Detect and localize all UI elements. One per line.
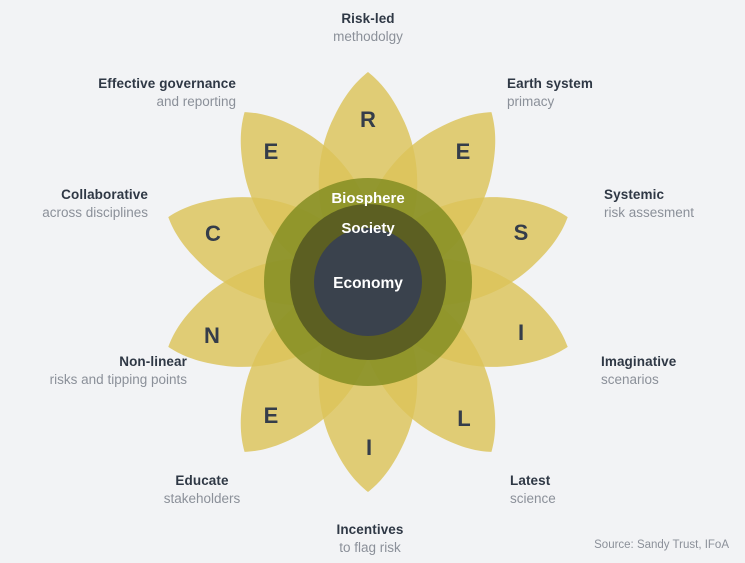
petal-label-title-1: Earth system <box>507 75 677 93</box>
petal-label-title-7: Non-linear <box>12 353 187 371</box>
resilience-flower-diagram: Biosphere Society Economy RESILIENCE Ris… <box>0 0 745 563</box>
petal-label-subtitle-1: primacy <box>507 93 677 111</box>
petal-label-6: Educatestakeholders <box>122 472 282 507</box>
petal-letter-5: I <box>366 435 372 460</box>
petal-label-title-5: Incentives <box>280 521 460 539</box>
petal-label-5: Incentivesto flag risk <box>280 521 460 556</box>
petal-label-1: Earth systemprimacy <box>507 75 677 110</box>
petal-letter-8: C <box>205 221 221 246</box>
petal-label-subtitle-3: scenarios <box>601 371 745 389</box>
petal-label-title-9: Effective governance <box>60 75 236 93</box>
economy-label: Economy <box>333 275 403 292</box>
petal-label-2: Systemicrisk assesment <box>604 186 744 221</box>
source-note: Source: Sandy Trust, IFoA <box>594 539 729 551</box>
petal-label-subtitle-4: science <box>510 490 650 508</box>
petal-label-subtitle-0: methodolgy <box>268 28 468 46</box>
petal-label-subtitle-8: across disciplines <box>12 204 148 222</box>
petal-label-4: Latestscience <box>510 472 650 507</box>
petal-letter-4: L <box>457 406 470 431</box>
petal-letter-6: E <box>264 403 279 428</box>
petal-letter-7: N <box>204 323 220 348</box>
core-rings-group: Biosphere Society Economy <box>264 178 472 386</box>
petal-label-subtitle-2: risk assesment <box>604 204 744 222</box>
petal-label-subtitle-9: and reporting <box>60 93 236 111</box>
petal-label-title-6: Educate <box>122 472 282 490</box>
petal-label-title-3: Imaginative <box>601 353 745 371</box>
petal-label-7: Non-linearrisks and tipping points <box>12 353 187 388</box>
petal-label-subtitle-6: stakeholders <box>122 490 282 508</box>
society-label: Society <box>341 220 395 237</box>
petal-label-9: Effective governanceand reporting <box>60 75 236 110</box>
petal-label-8: Collaborativeacross disciplines <box>12 186 148 221</box>
biosphere-label: Biosphere <box>331 190 404 207</box>
petal-label-subtitle-7: risks and tipping points <box>12 371 187 389</box>
petal-label-title-0: Risk-led <box>268 10 468 28</box>
petal-letter-0: R <box>360 107 376 132</box>
petal-label-title-8: Collaborative <box>12 186 148 204</box>
petal-label-0: Risk-ledmethodolgy <box>268 10 468 45</box>
petal-letter-2: S <box>514 220 529 245</box>
petal-label-title-4: Latest <box>510 472 650 490</box>
petal-letter-1: E <box>456 139 471 164</box>
petal-letter-3: I <box>518 320 524 345</box>
petal-label-subtitle-5: to flag risk <box>280 539 460 557</box>
petal-label-title-2: Systemic <box>604 186 744 204</box>
petal-label-3: Imaginativescenarios <box>601 353 745 388</box>
petal-letter-9: E <box>264 139 279 164</box>
